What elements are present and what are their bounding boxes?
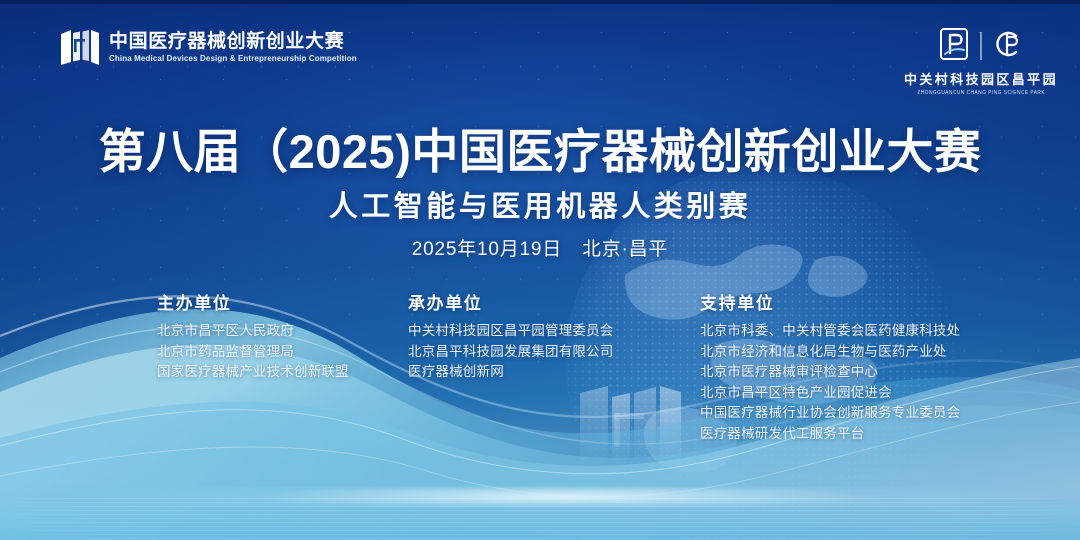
co-organizers-item: 中关村科技园区昌平园管理委员会	[408, 321, 614, 342]
co-organizers-column: 承办单位 中关村科技园区昌平园管理委员会 北京昌平科技园发展集团有限公司 医疗器…	[408, 289, 614, 383]
main-title: 第八届（2025)中国医疗器械创新创业大赛	[0, 113, 1080, 182]
partner-logo-divider	[980, 32, 981, 60]
partner-logo-title-cn: 中关村科技园区昌平园	[904, 69, 1058, 88]
supporters-item: 北京市医疗器械审评检查中心	[700, 362, 960, 383]
supporters-item: 医疗器械研发代工服务平台	[700, 424, 960, 445]
zhongguancun-p-logo-icon	[939, 27, 969, 66]
co-organizers-item: 北京昌平科技园发展集团有限公司	[408, 342, 614, 363]
organizers-column: 主办单位 北京市昌平区人民政府 北京市药品监督管理局 国家医疗器械产业技术创新联…	[157, 289, 349, 383]
partner-logo-title-en: ZHONGGUANCUN CHANG PING SCIENCE PARK	[917, 90, 1045, 96]
supporters-item: 北京市科委、中关村管委会医药健康科技处	[700, 321, 960, 342]
supporters-heading: 支持单位	[700, 289, 960, 314]
supporters-item: 中国医疗器械行业协会创新服务专业委员会	[700, 403, 960, 424]
organization-columns: 主办单位 北京市昌平区人民政府 北京市药品监督管理局 国家医疗器械产业技术创新联…	[0, 289, 1080, 459]
organizers-item: 北京市药品监督管理局	[157, 342, 349, 363]
supporters-item: 北京市昌平区特色产业园促进会	[700, 383, 960, 404]
competition-logo-title-en: China Medical Devices Design & Entrepren…	[109, 54, 357, 63]
event-date-location: 2025年10月19日 北京·昌平	[0, 234, 1080, 261]
supporters-item: 北京市经济和信息化局生物与医药产业处	[700, 342, 960, 363]
competition-logo-title-cn: 中国医疗器械创新创业大赛	[109, 31, 364, 53]
competition-door-logo-icon	[60, 28, 100, 66]
organizers-item: 国家医疗器械产业技术创新联盟	[157, 362, 349, 383]
partner-logo: 中关村科技园区昌平园 ZHONGGUANCUN CHANG PING SCIEN…	[904, 26, 1058, 96]
bottom-glow	[0, 480, 1080, 540]
poster-canvas: 中国医疗器械创新创业大赛 China Medical Devices Desig…	[0, 0, 1080, 540]
supporters-column: 支持单位 北京市科委、中关村管委会医药健康科技处 北京市经济和信息化局生物与医药…	[700, 289, 960, 444]
organizers-heading: 主办单位	[157, 289, 349, 314]
organizers-item: 北京市昌平区人民政府	[157, 321, 349, 342]
competition-logo: 中国医疗器械创新创业大赛 China Medical Devices Desig…	[60, 28, 364, 66]
co-organizers-heading: 承办单位	[408, 289, 614, 314]
co-organizers-item: 医疗器械创新网	[408, 362, 614, 383]
sub-title: 人工智能与医用机器人类别赛	[0, 183, 1080, 225]
changping-c-logo-icon	[993, 27, 1023, 66]
